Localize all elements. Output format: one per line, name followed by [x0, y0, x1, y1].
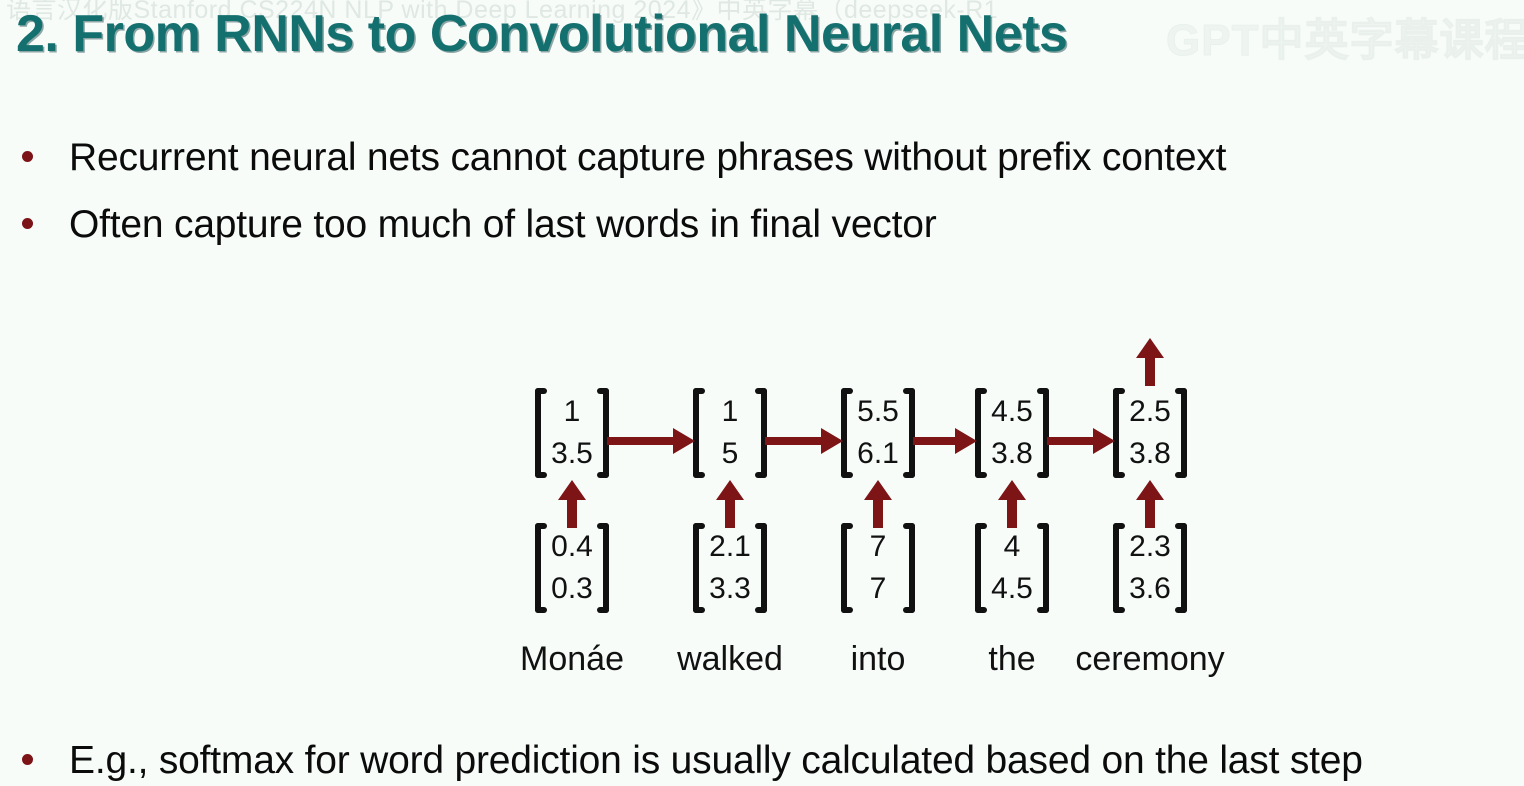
rnn-step-2: 5.56.177into [818, 330, 938, 700]
vector-value: 7 [870, 526, 887, 568]
recurrence-arrow-icon [1047, 426, 1115, 456]
vector-value: 7 [870, 568, 887, 610]
word-label: Monáe [520, 640, 624, 679]
vector-value: 2.1 [709, 526, 751, 568]
vector-value: 5 [722, 433, 739, 475]
rnn-step-1: 152.13.3walked [670, 330, 790, 700]
input-to-hidden-arrow-icon [997, 480, 1027, 524]
input-to-hidden-arrow-icon [557, 480, 587, 524]
hidden-state-vector: 4.53.8 [975, 388, 1049, 478]
word-label: the [988, 640, 1035, 679]
hidden-state-vector: 15 [693, 388, 767, 478]
bullet-item-2: E.g., softmax for word prediction is usu… [22, 739, 1363, 783]
vector-values: 2.33.6 [1125, 523, 1175, 613]
vector-value: 2.3 [1129, 526, 1171, 568]
right-bracket-icon [755, 523, 767, 613]
rnn-step-0: 13.50.40.3Monáe [512, 330, 632, 700]
rnn-step-4: 2.53.82.33.6ceremony [1090, 330, 1210, 700]
vector-value: 3.8 [991, 433, 1033, 475]
watermark-right-text: GPT中英字幕课程 [1166, 4, 1524, 68]
rnn-step-3: 4.53.844.5the [952, 330, 1072, 700]
vector-value: 3.5 [551, 433, 593, 475]
bullet-dot-icon [22, 754, 33, 765]
right-bracket-icon [1175, 523, 1187, 613]
vector-values: 2.53.8 [1125, 388, 1175, 478]
vector-value: 0.4 [551, 526, 593, 568]
hidden-state-vector: 13.5 [535, 388, 609, 478]
slide-canvas: 语言汉化版Stanford CS224N NLP with Deep Learn… [0, 0, 1524, 786]
bullet-text-2: E.g., softmax for word prediction is usu… [69, 739, 1363, 783]
bullet-dot-icon [22, 151, 33, 162]
input-to-hidden-arrow-icon [715, 480, 745, 524]
vector-value: 4.5 [991, 568, 1033, 610]
bullet-text-1: Often capture too much of last words in … [69, 203, 937, 247]
right-bracket-icon [597, 523, 609, 613]
input-word-vector: 77 [841, 523, 915, 613]
rnn-unrolled-diagram: 13.50.40.3Monáe152.13.3walked5.56.177int… [500, 330, 1300, 700]
bullet-dot-icon [22, 218, 33, 229]
vector-values: 5.56.1 [853, 388, 903, 478]
vector-value: 4 [1004, 526, 1021, 568]
left-bracket-icon [1113, 523, 1125, 613]
recurrence-arrow-icon [607, 426, 695, 456]
right-bracket-icon [903, 523, 915, 613]
vector-values: 4.53.8 [987, 388, 1037, 478]
vector-value: 3.6 [1129, 568, 1171, 610]
word-label: into [851, 640, 906, 679]
input-word-vector: 44.5 [975, 523, 1049, 613]
input-word-vector: 2.33.6 [1113, 523, 1187, 613]
vector-value: 1 [564, 391, 581, 433]
bullet-item-0: Recurrent neural nets cannot capture phr… [22, 136, 1226, 180]
input-word-vector: 2.13.3 [693, 523, 767, 613]
word-label: walked [677, 640, 783, 679]
bullet-text-0: Recurrent neural nets cannot capture phr… [69, 136, 1226, 180]
left-bracket-icon [693, 523, 705, 613]
vector-value: 3.3 [709, 568, 751, 610]
left-bracket-icon [975, 523, 987, 613]
vector-value: 2.5 [1129, 391, 1171, 433]
vector-values: 13.5 [547, 388, 597, 478]
vector-values: 15 [705, 388, 755, 478]
vector-values: 2.13.3 [705, 523, 755, 613]
word-label: ceremony [1075, 640, 1224, 679]
input-word-vector: 0.40.3 [535, 523, 609, 613]
vector-value: 4.5 [991, 391, 1033, 433]
left-bracket-icon [841, 523, 853, 613]
page-title: 2. From RNNs to Convolutional Neural Net… [16, 4, 1067, 64]
input-to-hidden-arrow-icon [863, 480, 893, 524]
left-bracket-icon [535, 523, 547, 613]
vector-value: 5.5 [857, 391, 899, 433]
recurrence-arrow-icon [913, 426, 977, 456]
vector-value: 6.1 [857, 433, 899, 475]
bullet-item-1: Often capture too much of last words in … [22, 203, 937, 247]
recurrence-arrow-icon [765, 426, 843, 456]
input-to-hidden-arrow-icon [1135, 480, 1165, 524]
left-bracket-icon [535, 388, 547, 478]
right-bracket-icon [1175, 388, 1187, 478]
right-bracket-icon [1037, 523, 1049, 613]
vector-value: 3.8 [1129, 433, 1171, 475]
vector-value: 1 [722, 391, 739, 433]
vector-values: 0.40.3 [547, 523, 597, 613]
vector-value: 0.3 [551, 568, 593, 610]
hidden-state-vector: 5.56.1 [841, 388, 915, 478]
hidden-state-vector: 2.53.8 [1113, 388, 1187, 478]
output-arrow-icon [1135, 338, 1165, 386]
vector-values: 44.5 [987, 523, 1037, 613]
vector-values: 77 [853, 523, 903, 613]
